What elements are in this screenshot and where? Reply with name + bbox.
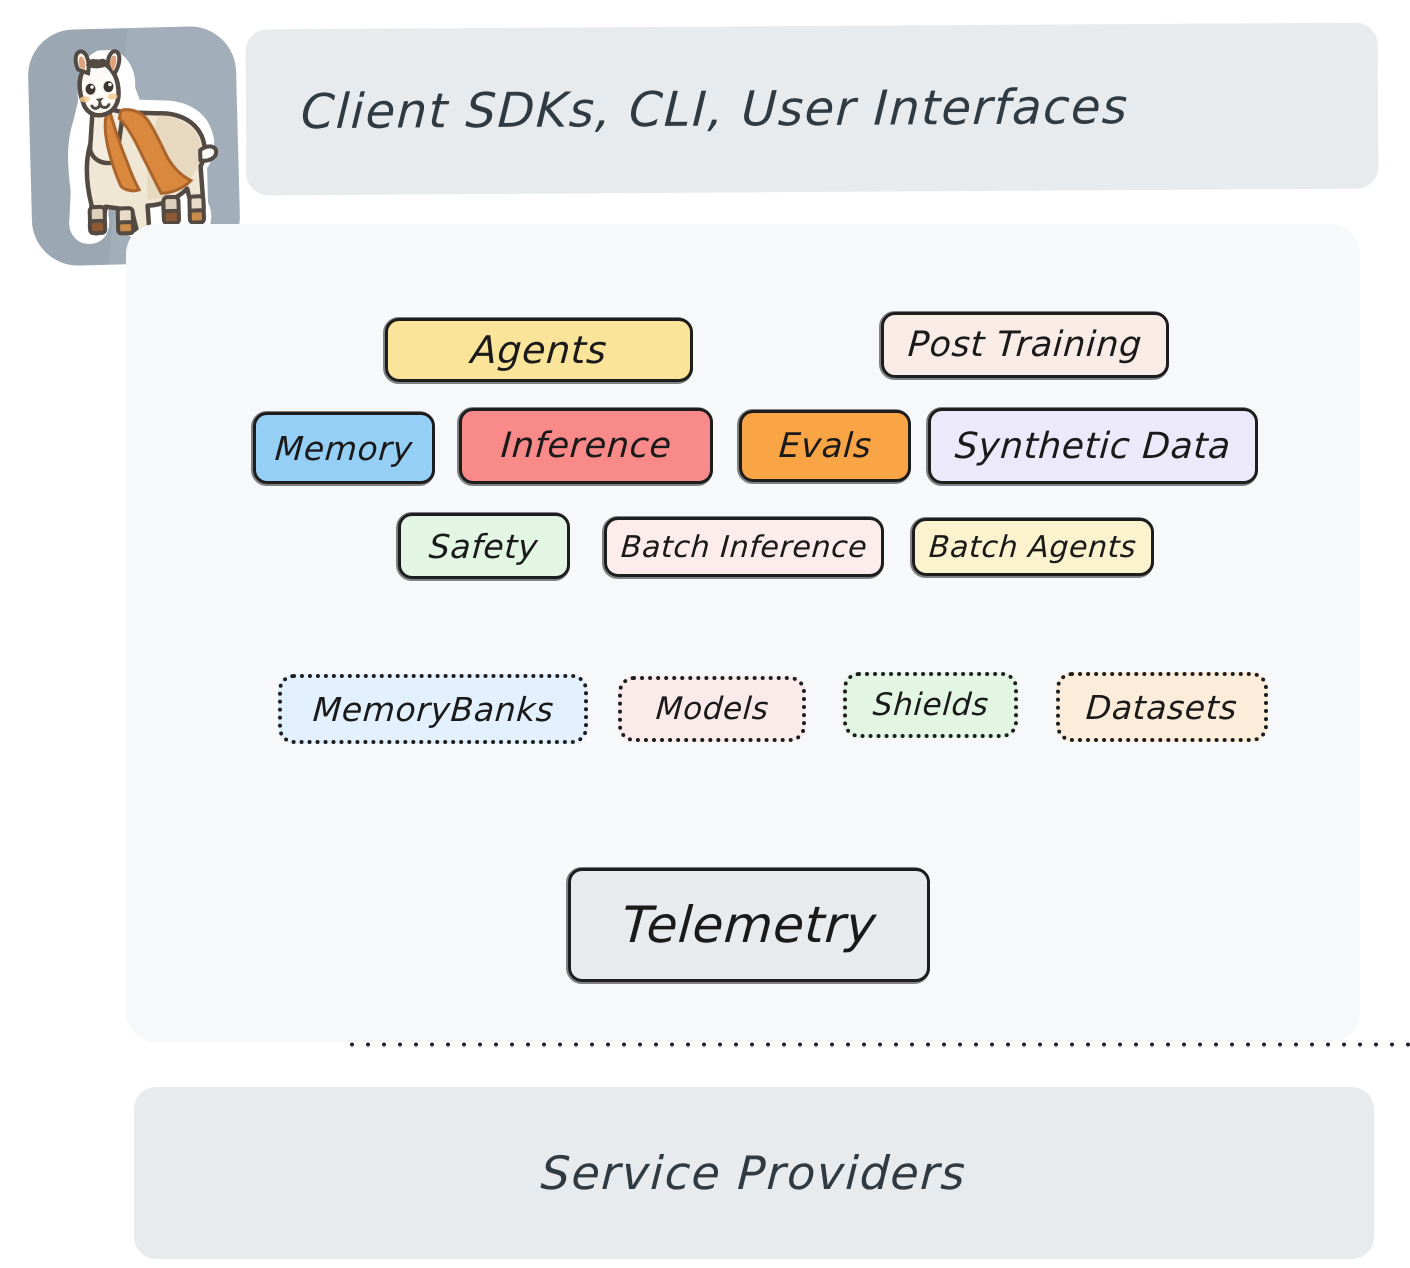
- api-box-post-training[interactable]: Post Training: [881, 312, 1169, 378]
- resource-box-label: Models: [654, 691, 769, 727]
- resource-box-label: Shields: [871, 687, 989, 723]
- service-providers-banner: Service Providers: [134, 1087, 1374, 1259]
- client-layer-banner: Client SDKs, CLI, User Interfaces: [246, 23, 1379, 196]
- resource-box-label: MemoryBanks: [311, 690, 555, 729]
- api-box-label: Batch Inference: [620, 530, 869, 565]
- api-box-label: Post Training: [907, 325, 1144, 365]
- api-box-batch-inference[interactable]: Batch Inference: [604, 517, 884, 577]
- api-box-label: Memory: [274, 429, 415, 468]
- diagram-canvas: Client SDKs, CLI, User Interfaces Agents…: [0, 0, 1410, 1268]
- telemetry-box[interactable]: Telemetry: [568, 868, 930, 982]
- resource-box-datasets[interactable]: Datasets: [1056, 672, 1268, 742]
- api-box-memory[interactable]: Memory: [253, 412, 435, 484]
- resource-box-models[interactable]: Models: [618, 676, 806, 742]
- api-box-label: Batch Agents: [928, 530, 1138, 565]
- client-layer-label: Client SDKs, CLI, User Interfaces: [245, 79, 1130, 140]
- api-box-label: Inference: [499, 426, 672, 466]
- api-box-label: Safety: [428, 527, 540, 566]
- service-providers-label: Service Providers: [540, 1146, 968, 1200]
- section-divider: [344, 1042, 1410, 1047]
- api-box-label: Evals: [777, 426, 872, 466]
- api-box-label: Synthetic Data: [954, 426, 1233, 467]
- api-box-evals[interactable]: Evals: [739, 410, 911, 482]
- api-box-label: Agents: [470, 328, 609, 372]
- api-box-agents[interactable]: Agents: [385, 318, 693, 382]
- resource-box-memorybanks[interactable]: MemoryBanks: [278, 674, 588, 744]
- llama-stack-panel: Agents Post Training Memory Inference Ev…: [126, 224, 1360, 1042]
- telemetry-label: Telemetry: [620, 896, 878, 954]
- api-box-safety[interactable]: Safety: [398, 513, 570, 579]
- resource-box-shields[interactable]: Shields: [843, 672, 1018, 738]
- api-box-synthetic-data[interactable]: Synthetic Data: [928, 408, 1258, 484]
- api-box-batch-agents[interactable]: Batch Agents: [912, 518, 1154, 576]
- api-box-inference[interactable]: Inference: [459, 408, 713, 484]
- resource-box-label: Datasets: [1085, 688, 1239, 727]
